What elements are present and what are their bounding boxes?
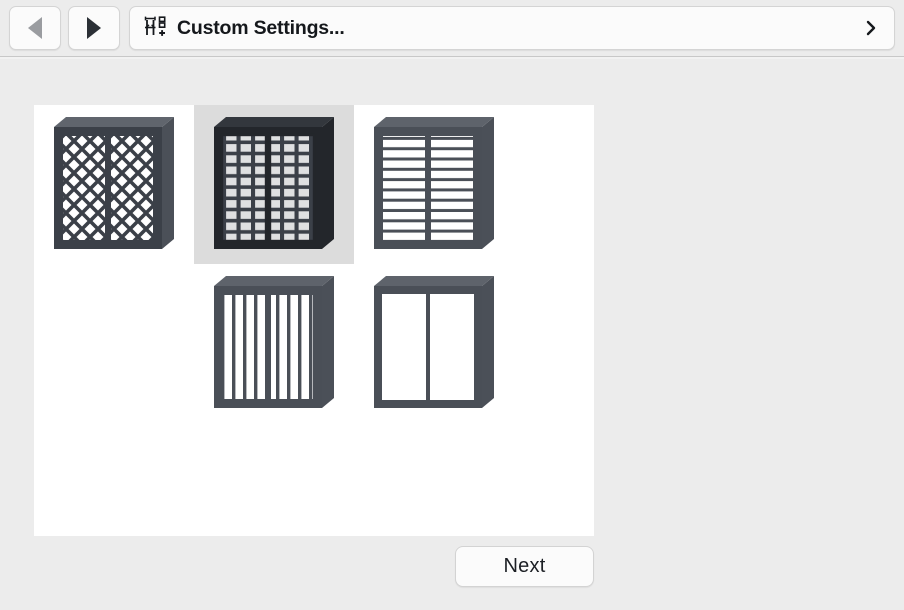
gallery-item-vertical-bar-window[interactable]	[194, 264, 354, 423]
gallery-empty-cell	[194, 423, 354, 582]
gallery-empty-cell	[34, 423, 194, 582]
custom-furniture-settings-icon	[143, 15, 169, 41]
lattice-window-thumbnail	[50, 109, 178, 261]
toolbar: Custom Settings...	[0, 0, 904, 56]
gallery-item-louvre-window[interactable]	[354, 105, 514, 264]
gallery-item-lattice-window[interactable]	[34, 105, 194, 264]
vertical-bar-window-thumbnail	[210, 268, 338, 420]
plain-window-thumbnail	[370, 268, 498, 420]
next-button-label: Next	[504, 555, 546, 578]
louvre-window-thumbnail	[370, 109, 498, 261]
gallery-empty-cell	[34, 264, 194, 423]
gallery-item-plain-window[interactable]	[354, 264, 514, 423]
window-type-grid	[34, 105, 594, 582]
next-button[interactable]: Next	[455, 546, 594, 587]
gallery-panel	[34, 105, 594, 536]
gallery-item-grid-mullion-window[interactable]	[194, 105, 354, 264]
chevron-right-icon[interactable]	[862, 19, 880, 37]
triangle-right-icon	[87, 17, 101, 39]
back-button[interactable]	[9, 6, 61, 50]
title-bar[interactable]: Custom Settings...	[129, 6, 895, 50]
grid-mullion-window-thumbnail	[210, 109, 338, 261]
page-title: Custom Settings...	[177, 17, 345, 40]
triangle-left-icon	[28, 17, 42, 39]
toolbar-divider-highlight	[0, 57, 904, 59]
forward-button[interactable]	[68, 6, 120, 50]
